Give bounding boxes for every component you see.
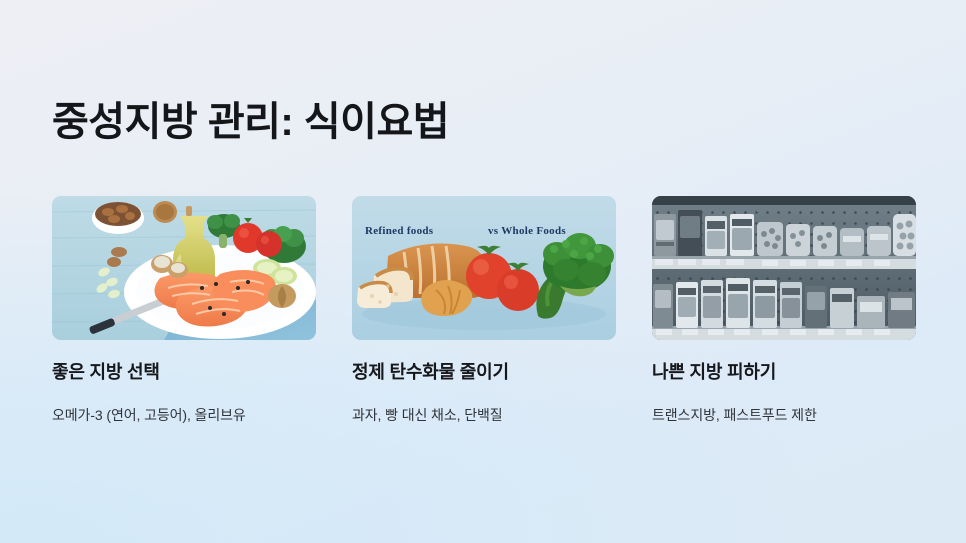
figure-overlay-text-whole: vs Whole Foods — [488, 225, 566, 237]
card-list: 좋은 지방 선택 오메가-3 (연어, 고등어), 올리브유 — [52, 196, 914, 425]
card-description: 트랜스지방, 패스트푸드 제한 — [652, 406, 916, 426]
card-heading: 좋은 지방 선택 — [52, 361, 316, 384]
card-heading: 나쁜 지방 피하기 — [652, 361, 916, 384]
snack-aisle-shelves-photo — [652, 196, 916, 340]
card-bad-fats: 나쁜 지방 피하기 트랜스지방, 패스트푸드 제한 — [652, 196, 916, 425]
figure-overlay-text-refined: Refined foods — [365, 225, 433, 237]
card-refined-carbs: Refined foods vs Whole Foods 정제 탄수화물 줄이기… — [352, 196, 616, 425]
salmon-plate-photo — [52, 196, 316, 340]
card-good-fats: 좋은 지방 선택 오메가-3 (연어, 고등어), 올리브유 — [52, 196, 316, 425]
refined-vs-whole-foods-photo: Refined foods vs Whole Foods — [352, 196, 616, 340]
slide-canvas: 중성지방 관리: 식이요법 — [0, 0, 966, 543]
page-title: 중성지방 관리: 식이요법 — [52, 99, 449, 145]
card-heading: 정제 탄수화물 줄이기 — [352, 361, 616, 384]
card-description: 오메가-3 (연어, 고등어), 올리브유 — [52, 406, 316, 426]
card-description: 과자, 빵 대신 채소, 단백질 — [352, 406, 616, 426]
